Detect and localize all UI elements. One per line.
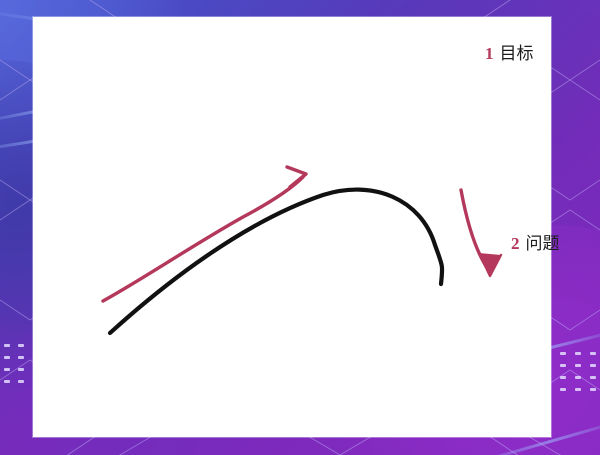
label-problem-number: 2 [511, 234, 520, 253]
label-goal: 1目标 [485, 45, 534, 63]
label-goal-text: 目标 [500, 44, 534, 64]
white-content-card: 1目标 2问题 [33, 17, 551, 437]
pink-rising-arrow-shaft [103, 177, 303, 301]
label-goal-number: 1 [485, 44, 494, 63]
label-problem-text: 问题 [526, 234, 560, 254]
label-problem: 2问题 [511, 235, 560, 253]
pink-falling-arrow-head [479, 253, 501, 276]
slide-canvas: 1目标 2问题 [0, 0, 600, 455]
black-curve [110, 190, 442, 333]
hand-drawn-diagram [33, 17, 551, 437]
